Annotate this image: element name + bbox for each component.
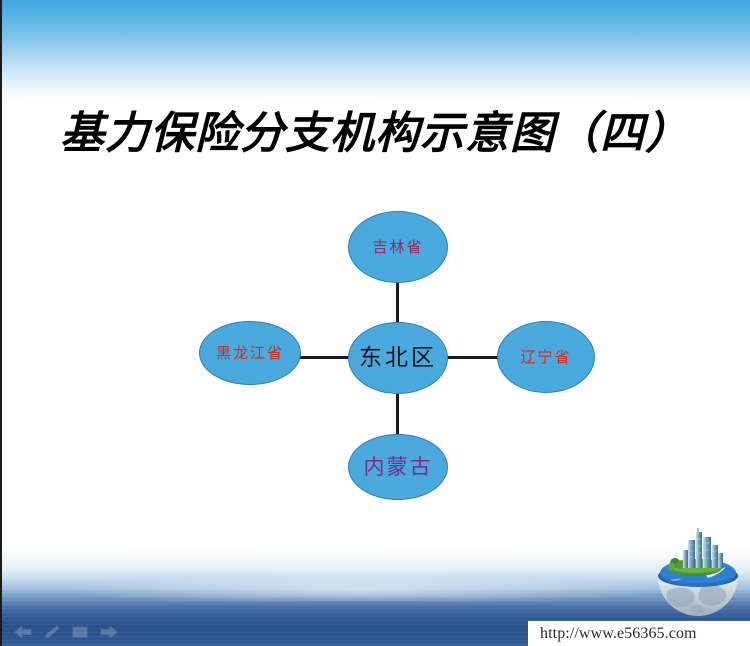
node-heilongjiang[interactable]: 黑龙江省 <box>199 321 301 385</box>
node-heilongjiang-label: 黑龙江省 <box>216 346 284 361</box>
node-jilin[interactable]: 吉林省 <box>348 211 448 283</box>
presentation-slide: 基力保险分支机构示意图（四） 吉林省 黑龙江省 东北区 辽宁省 内蒙古 <box>0 0 750 646</box>
node-liaoning[interactable]: 辽宁省 <box>497 321 595 393</box>
node-center-dongbeiqu[interactable]: 东北区 <box>348 322 448 394</box>
node-neimenggu-label: 内蒙古 <box>364 457 433 478</box>
watermark-url-text: http://www.e56365.com <box>528 625 697 643</box>
next-arrow-icon[interactable] <box>100 625 118 639</box>
menu-icon[interactable] <box>72 625 88 639</box>
globe-city-logo <box>650 520 746 620</box>
node-jilin-label: 吉林省 <box>372 240 423 255</box>
connector-center-to-liaoning <box>442 356 504 359</box>
watermark-url-strip: http://www.e56365.com <box>528 621 750 646</box>
node-neimenggu[interactable]: 内蒙古 <box>348 434 448 500</box>
slideshow-nav-bar[interactable] <box>14 622 134 642</box>
pen-icon[interactable] <box>44 625 60 639</box>
previous-arrow-icon[interactable] <box>14 625 32 639</box>
node-liaoning-label: 辽宁省 <box>520 350 571 365</box>
org-structure-diagram: 吉林省 黑龙江省 东北区 辽宁省 内蒙古 <box>0 0 750 646</box>
connector-center-to-heilongjiang <box>294 356 356 359</box>
node-center-label: 东北区 <box>359 347 437 370</box>
